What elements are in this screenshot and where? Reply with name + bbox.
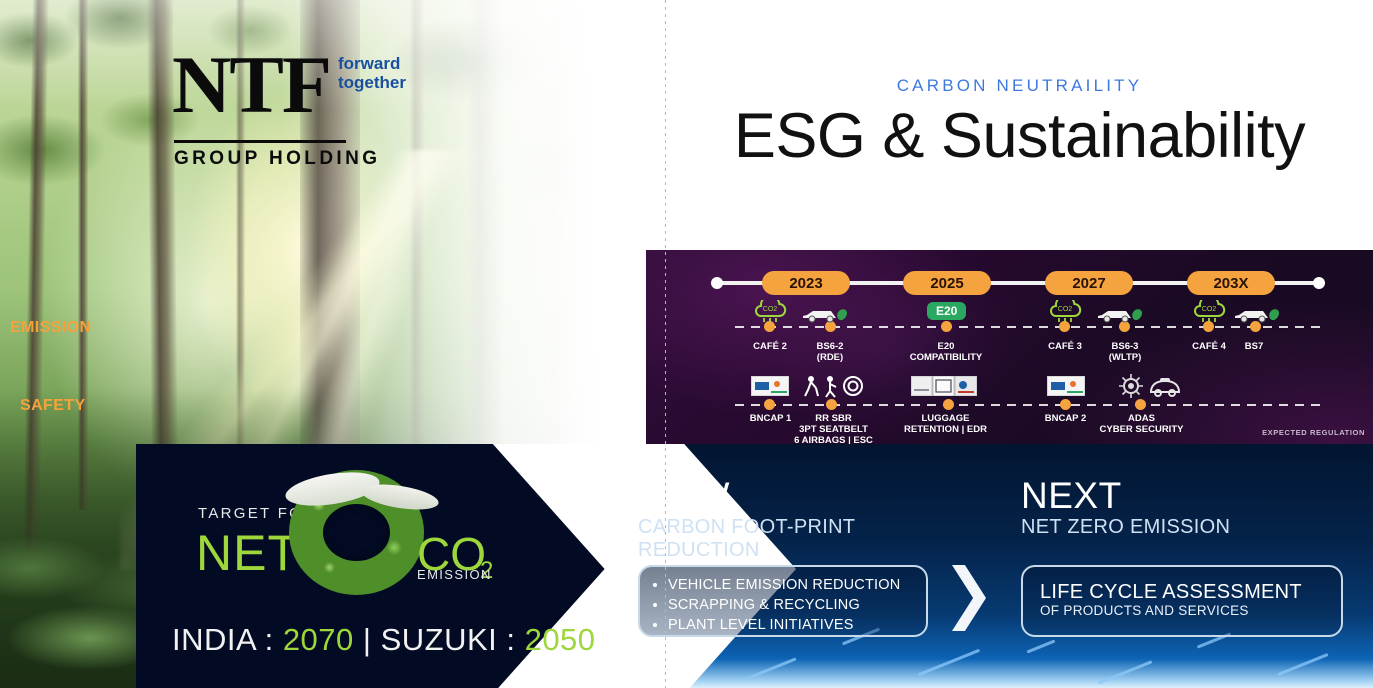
co2-cloud-icon: CO2 <box>1048 300 1082 329</box>
logo-divider <box>174 140 346 143</box>
emission-caption: BS6-2 (RDE) <box>790 341 870 363</box>
svg-text:CO2: CO2 <box>763 306 778 313</box>
timeline-start-dot <box>711 277 723 289</box>
slide-canvas: NTF forward together GROUP HOLDING CARBO… <box>0 0 1373 688</box>
e20-badge-icon: E20 <box>927 302 966 320</box>
roadmap-row-label-safety: SAFETY <box>20 397 86 415</box>
car-leaf-icon <box>800 303 850 330</box>
milestone-2023[interactable]: 2023 <box>762 271 850 295</box>
vertical-guide-line <box>665 0 666 688</box>
logo-tagline: forward together <box>338 54 406 92</box>
emission-node <box>941 321 952 332</box>
ntf-logo: NTF forward together GROUP HOLDING <box>172 44 418 156</box>
now-subtitle-line2: REDUCTION <box>638 539 855 562</box>
next-card-title: LIFE CYCLE ASSESSMENT <box>1040 581 1302 604</box>
target-separator: | <box>354 622 381 657</box>
seatbelt-esc-icon <box>803 374 865 403</box>
now-block: NOW CARBON FOOT-PRINT REDUCTION <box>638 476 855 562</box>
safety-caption: RR SBR 3PT SEATBELT 6 AIRBAGS | ESC <box>776 413 891 446</box>
slide-kicker: CARBON NEUTRAILITY <box>666 76 1373 96</box>
emission-caption: BS6-3 (WLTP) <box>1085 341 1165 363</box>
roadmap-row-label-emission: EMISSION <box>10 319 91 337</box>
list-item: VEHICLE EMISSION REDUCTION <box>668 575 900 595</box>
crash-test-icon <box>1047 376 1085 401</box>
car-leaf-icon <box>1232 303 1282 330</box>
suzuki-year: 2050 <box>525 622 596 657</box>
timeline-end-dot <box>1313 277 1325 289</box>
list-item: PLANT LEVEL INITIATIVES <box>668 615 900 635</box>
emission-word: EMISSION <box>417 567 492 582</box>
now-subtitle-line1: CARBON FOOT-PRINT <box>638 516 855 539</box>
suzuki-label: SUZUKI : <box>381 622 525 657</box>
svg-text:CO2: CO2 <box>1058 306 1073 313</box>
crash-test-icon <box>751 376 789 401</box>
emission-caption: BS7 <box>1219 341 1289 352</box>
adas-cyber-icon <box>1118 373 1144 404</box>
now-title: NOW <box>638 476 855 516</box>
emission-caption: E20 COMPATIBILITY <box>891 341 1001 363</box>
mossy-zero-graphic <box>289 470 424 595</box>
milestone-2027[interactable]: 2027 <box>1045 271 1133 295</box>
target-years-line: INDIA : 2070 | SUZUKI : 2050 <box>172 622 596 658</box>
next-card-subtitle: OF PRODUCTS AND SERVICES <box>1040 603 1249 618</box>
safety-track <box>735 404 1325 406</box>
next-subtitle: NET ZERO EMISSION <box>1021 516 1230 539</box>
list-item: SCRAPPING & RECYCLING <box>668 595 900 615</box>
now-bullet-list: VEHICLE EMISSION REDUCTION SCRAPPING & R… <box>652 575 900 635</box>
svg-text:CO2: CO2 <box>1202 306 1217 313</box>
luggage-edr-icon <box>911 376 977 401</box>
car-leaf-icon <box>1095 303 1145 330</box>
milestone-2025[interactable]: 2025 <box>903 271 991 295</box>
next-block: NEXT NET ZERO EMISSION <box>1021 476 1230 539</box>
logo-tagline-line1: forward <box>338 54 406 73</box>
safety-caption: ADAS CYBER SECURITY <box>1084 413 1199 435</box>
logo-subtitle: GROUP HOLDING <box>174 148 380 170</box>
india-year: 2070 <box>283 622 354 657</box>
page-title: ESG & Sustainability <box>666 100 1373 172</box>
next-title: NEXT <box>1021 476 1230 516</box>
co2-cloud-icon: CO2 <box>1192 300 1226 329</box>
autonomous-car-icon <box>1148 377 1182 402</box>
logo-tagline-line2: together <box>338 73 406 92</box>
net-word: NET <box>196 524 299 582</box>
india-label: INDIA : <box>172 622 283 657</box>
safety-caption: LUGGAGE RETENTION | EDR <box>888 413 1003 435</box>
milestone-203x[interactable]: 203X <box>1187 271 1275 295</box>
co2-cloud-icon: CO2 <box>753 300 787 329</box>
